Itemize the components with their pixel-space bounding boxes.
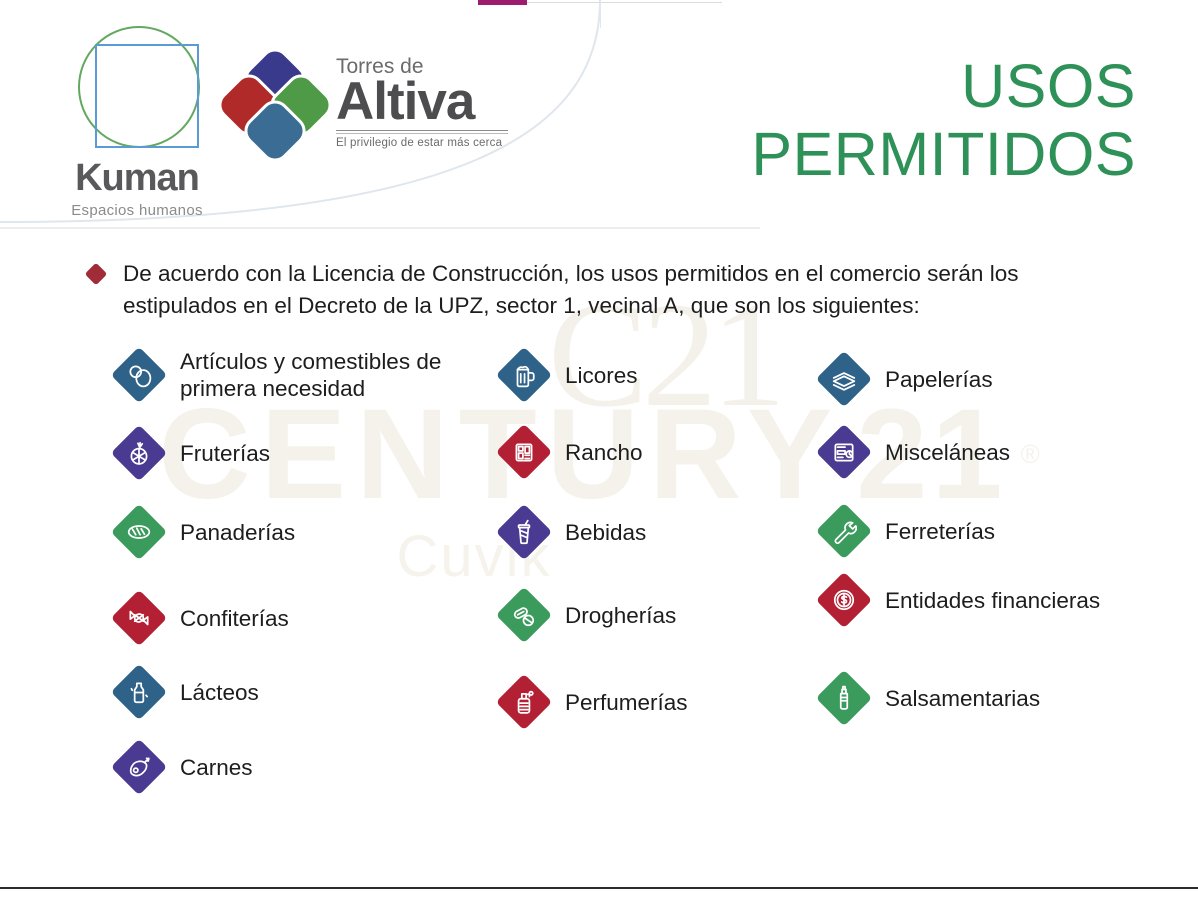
altiva-rule-bottom bbox=[336, 133, 508, 134]
column-1: Artículos y comestibles de primera neces… bbox=[112, 348, 497, 788]
slide-header: Kuman Espacios humanos Torres de Altiva … bbox=[0, 0, 1198, 232]
bottom-rule bbox=[0, 887, 1198, 889]
paper-stack-icon bbox=[817, 352, 871, 406]
shop-counter-icon bbox=[817, 425, 871, 479]
eggs-icon-glyph bbox=[126, 362, 152, 388]
list-item[interactable]: Artículos y comestibles de primera neces… bbox=[112, 348, 497, 402]
list-item[interactable]: Entidades financieras bbox=[817, 573, 1177, 627]
list-item[interactable]: Drogherías bbox=[497, 588, 817, 642]
list-item-label: Licores bbox=[565, 362, 638, 389]
list-item[interactable]: Confiterías bbox=[112, 591, 497, 645]
column-3: PapeleríasMisceláneasFerreteríasEntidade… bbox=[817, 348, 1177, 788]
perfume-bottle-icon bbox=[497, 675, 551, 729]
altiva-tagline: El privilegio de estar más cerca bbox=[336, 137, 508, 149]
pills-icon bbox=[497, 588, 551, 642]
list-item-label: Ferreterías bbox=[885, 518, 995, 545]
paper-stack-icon-glyph bbox=[831, 366, 857, 392]
candy-icon-glyph bbox=[126, 605, 152, 631]
column-2: LicoresRanchoBebidasDrogheríasPerfumería… bbox=[497, 348, 817, 788]
list-item[interactable]: Papelerías bbox=[817, 352, 1177, 406]
milk-bottle-icon bbox=[112, 665, 166, 719]
grocery-box-icon-glyph bbox=[511, 439, 537, 465]
list-item[interactable]: Fruterías bbox=[112, 426, 497, 480]
sauce-bottle-icon bbox=[817, 671, 871, 725]
list-item-label: Artículos y comestibles de primera neces… bbox=[180, 348, 497, 402]
perfume-bottle-icon-glyph bbox=[511, 689, 537, 715]
list-item-label: Fruterías bbox=[180, 440, 270, 467]
top-accent-bar bbox=[478, 0, 527, 5]
bread-icon-glyph bbox=[126, 519, 152, 545]
candy-icon bbox=[112, 591, 166, 645]
beer-mug-icon-glyph bbox=[511, 362, 537, 388]
sauce-bottle-icon-glyph bbox=[831, 685, 857, 711]
top-vertical-tick bbox=[600, 2, 601, 28]
kuman-logo-tagline: Espacios humanos bbox=[52, 202, 222, 219]
list-item-label: Drogherías bbox=[565, 602, 676, 629]
list-item[interactable]: Misceláneas bbox=[817, 425, 1177, 479]
list-item-label: Confiterías bbox=[180, 605, 289, 632]
pills-icon-glyph bbox=[511, 602, 537, 628]
kuman-logo-name: Kuman bbox=[52, 159, 222, 197]
top-divider-line bbox=[527, 2, 722, 3]
ham-icon bbox=[112, 740, 166, 794]
kuman-logo: Kuman Espacios humanos bbox=[52, 22, 222, 208]
list-item-label: Entidades financieras bbox=[885, 587, 1100, 614]
coin-dollar-icon-glyph bbox=[831, 587, 857, 613]
grocery-box-icon bbox=[497, 425, 551, 479]
list-item-label: Misceláneas bbox=[885, 439, 1010, 466]
beer-mug-icon bbox=[497, 348, 551, 402]
list-item[interactable]: Salsamentarias bbox=[817, 671, 1177, 725]
page-title-line2: PERMITIDOS bbox=[616, 120, 1136, 188]
altiva-logo-text: Torres de Altiva El privilegio de estar … bbox=[336, 52, 508, 149]
soda-cup-icon bbox=[497, 505, 551, 559]
wrench-icon-glyph bbox=[831, 518, 857, 544]
list-item[interactable]: Licores bbox=[497, 348, 817, 402]
intro-paragraph-text: De acuerdo con la Licencia de Construcci… bbox=[123, 258, 1078, 322]
kuman-logo-mark bbox=[64, 22, 214, 157]
bread-icon bbox=[112, 505, 166, 559]
list-item[interactable]: Bebidas bbox=[497, 505, 817, 559]
list-item[interactable]: Ferreterías bbox=[817, 504, 1177, 558]
soda-cup-icon-glyph bbox=[511, 519, 537, 545]
intro-paragraph: De acuerdo con la Licencia de Construcci… bbox=[88, 258, 1078, 322]
wrench-icon bbox=[817, 504, 871, 558]
kuman-square-icon bbox=[95, 44, 199, 148]
list-item[interactable]: Carnes bbox=[112, 740, 497, 794]
list-item-label: Lácteos bbox=[180, 679, 259, 706]
coin-dollar-icon bbox=[817, 573, 871, 627]
diamond-bullet-icon bbox=[85, 263, 108, 286]
list-item-label: Panaderías bbox=[180, 519, 295, 546]
list-item[interactable]: Perfumerías bbox=[497, 675, 817, 729]
list-item-label: Rancho bbox=[565, 439, 643, 466]
torres-de-altiva-logo: Torres de Altiva El privilegio de estar … bbox=[222, 52, 512, 172]
usage-columns: Artículos y comestibles de primera neces… bbox=[0, 348, 1198, 788]
shop-counter-icon-glyph bbox=[831, 439, 857, 465]
slide-body: De acuerdo con la Licencia de Construcci… bbox=[0, 240, 1198, 788]
list-item-label: Bebidas bbox=[565, 519, 646, 546]
altiva-diamond-cluster-icon bbox=[222, 52, 328, 158]
slide: C21 CENTURY 21 ® Cuvik Kuman Espacios hu… bbox=[0, 0, 1198, 900]
pineapple-icon-glyph bbox=[126, 440, 152, 466]
ham-icon-glyph bbox=[126, 754, 152, 780]
list-item[interactable]: Rancho bbox=[497, 425, 817, 479]
list-item-label: Perfumerías bbox=[565, 689, 688, 716]
eggs-icon bbox=[112, 348, 166, 402]
pineapple-icon bbox=[112, 426, 166, 480]
list-item-label: Carnes bbox=[180, 754, 253, 781]
milk-bottle-icon-glyph bbox=[126, 679, 152, 705]
list-item-label: Papelerías bbox=[885, 366, 993, 393]
altiva-line2: Altiva bbox=[336, 77, 508, 127]
page-title-line1: USOS bbox=[616, 52, 1136, 120]
list-item-label: Salsamentarias bbox=[885, 685, 1040, 712]
page-title: USOS PERMITIDOS bbox=[616, 52, 1136, 189]
list-item[interactable]: Lácteos bbox=[112, 665, 497, 719]
list-item[interactable]: Panaderías bbox=[112, 505, 497, 559]
